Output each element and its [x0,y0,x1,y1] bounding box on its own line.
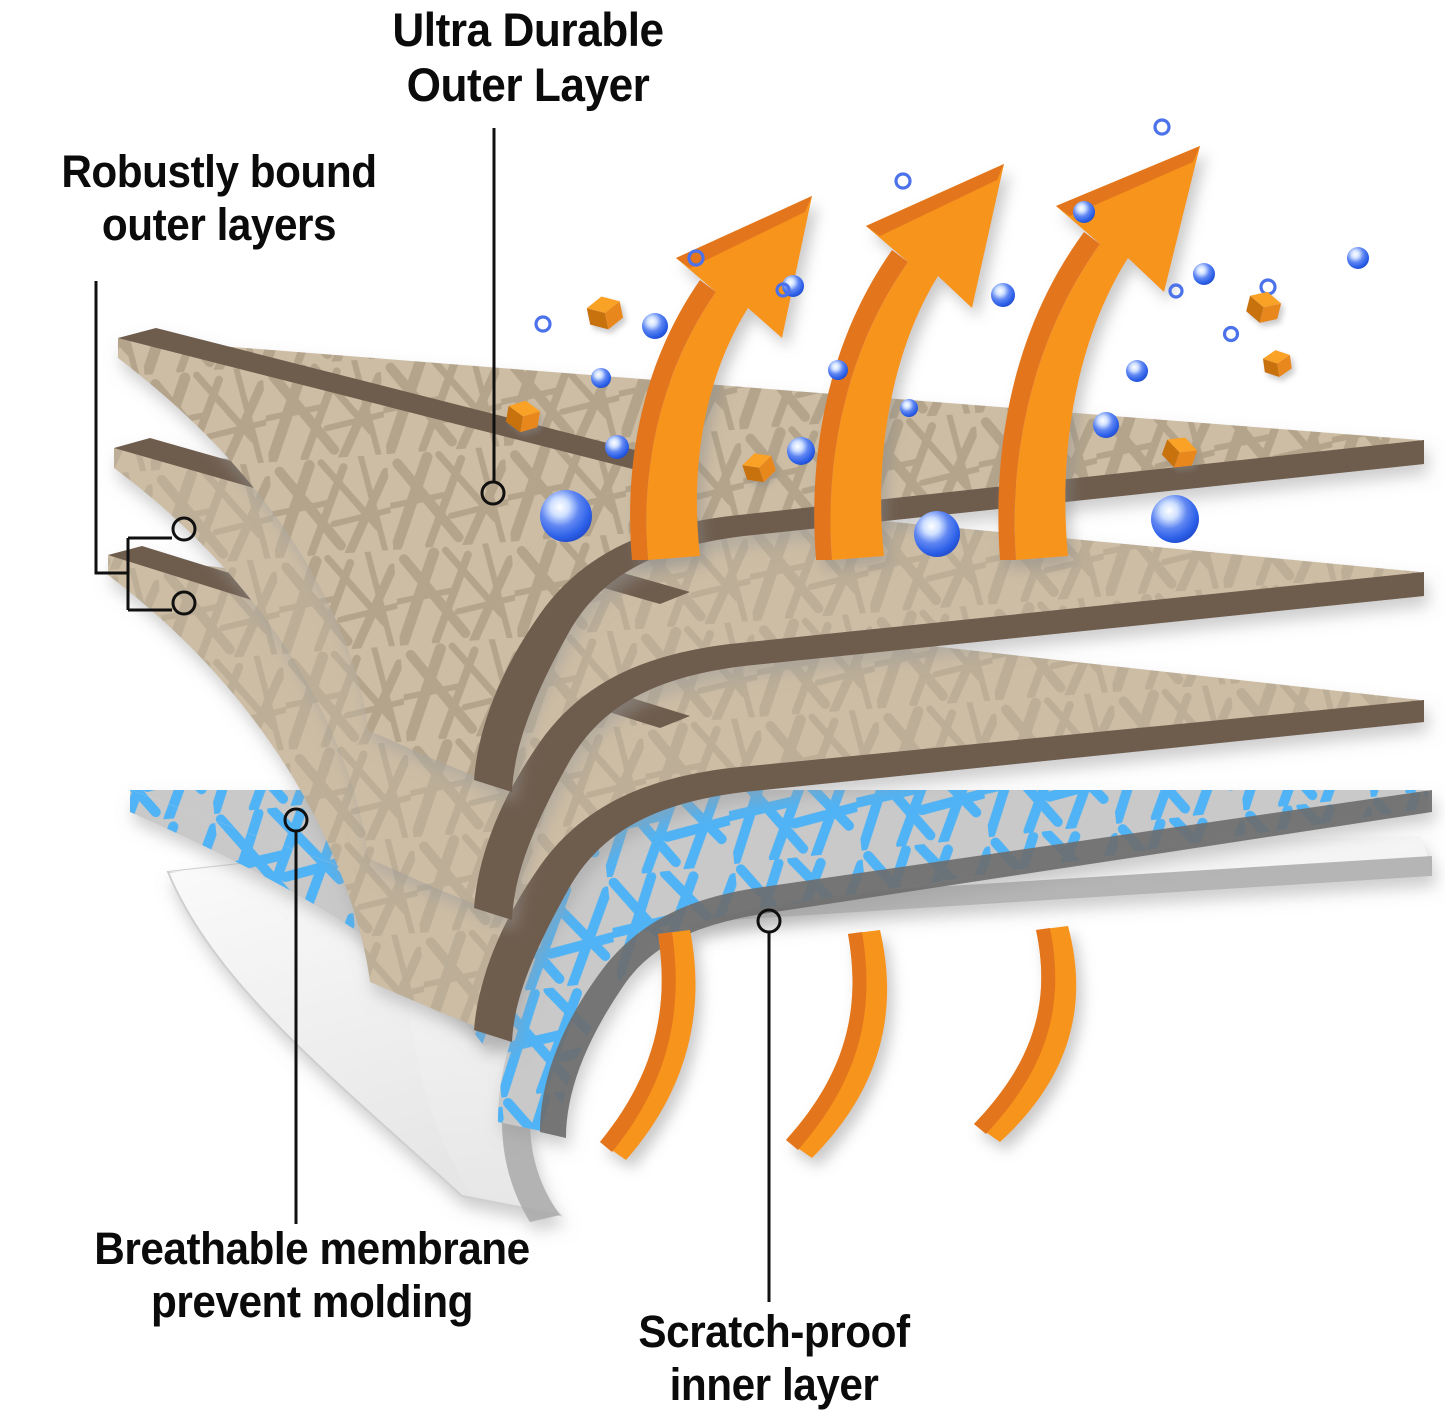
airflow-arrows [600,926,1076,1160]
label-robustly-bound-outer-layers: Robustly bound outer layers [17,145,421,251]
label-breathable-membrane-prevent-molding: Breathable membrane prevent molding [21,1222,604,1328]
label-ultra-durable-outer-layer: Ultra Durable Outer Layer [331,2,726,113]
leader-scratch-proof [758,910,780,1302]
label-scratch-proof-inner-layer: Scratch-proof inner layer [595,1305,952,1411]
diagram-canvas: Ultra Durable Outer Layer Robustly bound… [0,0,1445,1421]
